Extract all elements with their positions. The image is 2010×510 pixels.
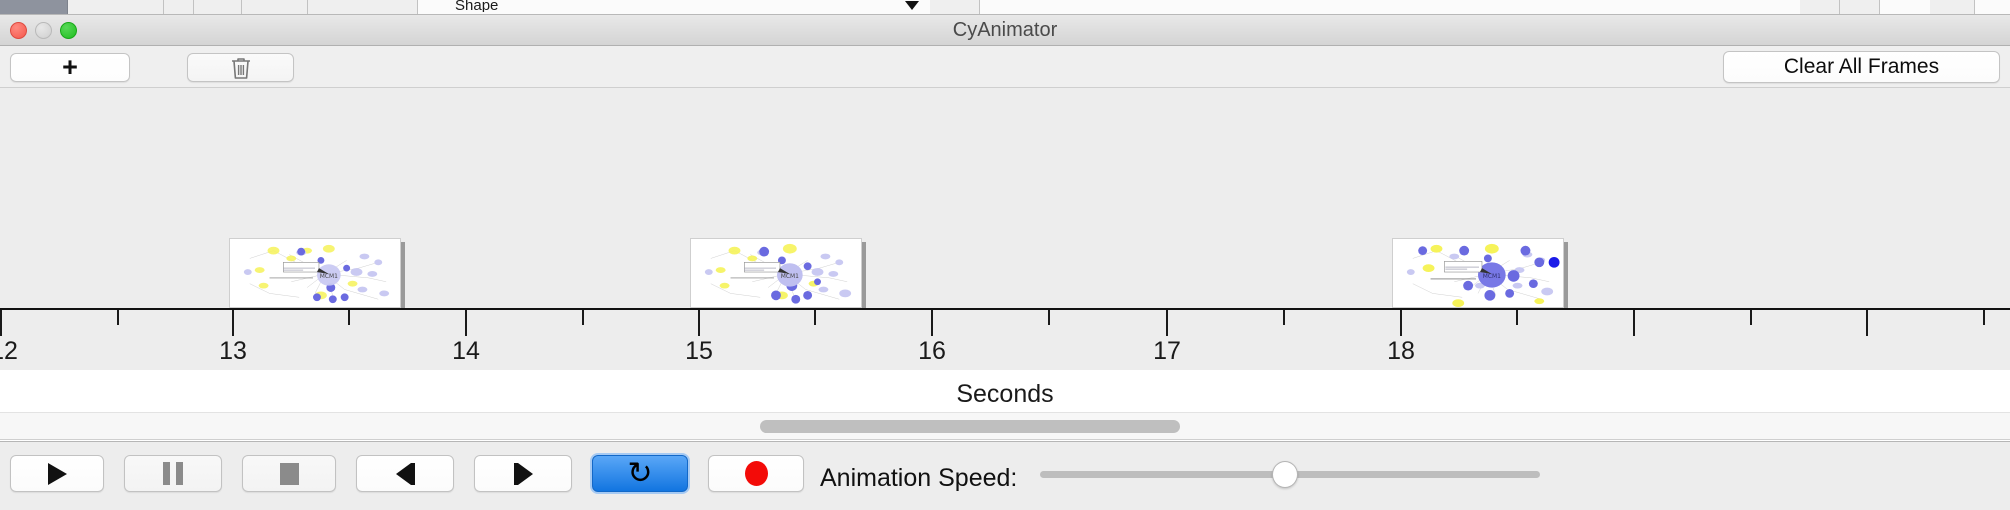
skip-to-start-button[interactable]: [356, 455, 454, 492]
ruler-tick-major: [931, 310, 933, 336]
ruler-tick-minor: [348, 310, 350, 325]
background-tab: [930, 0, 980, 15]
background-tab: [68, 0, 164, 15]
background-tab: [1800, 0, 1840, 15]
pause-button[interactable]: [124, 455, 222, 492]
background-tab: [164, 0, 194, 15]
background-tab: [1930, 0, 1975, 15]
ruler-tick-minor: [1750, 310, 1752, 325]
stop-icon: [280, 463, 299, 485]
background-tab: [0, 0, 68, 15]
ruler-tick-minor: [1048, 310, 1050, 325]
background-window-strip: Shape: [0, 0, 2010, 15]
ruler-tick-major: [698, 310, 700, 336]
play-button[interactable]: [10, 455, 104, 492]
slider-thumb[interactable]: [1272, 461, 1298, 488]
timeline-track[interactable]: MCM1: [0, 88, 2010, 310]
add-frame-button[interactable]: +: [10, 53, 130, 82]
ruler-tick-major: [1166, 310, 1168, 336]
ruler-tick-minor: [1983, 310, 1985, 325]
playback-controls: ↻ Animation Speed:: [0, 441, 2010, 510]
plus-icon: +: [62, 57, 78, 79]
svg-text:MCM1: MCM1: [320, 274, 338, 280]
cyanimator-window: Shape CyAnimator + Clear All Frames: [0, 0, 2010, 510]
frame-thumbnail[interactable]: MCM1: [1392, 238, 1564, 308]
pause-icon: [163, 462, 183, 485]
ruler-label: 12: [0, 337, 18, 366]
frame-toolbar: + Clear All Frames: [0, 46, 2010, 88]
stop-button[interactable]: [242, 455, 336, 492]
window-title: CyAnimator: [0, 15, 2010, 46]
record-button[interactable]: [708, 455, 804, 492]
loop-icon: ↻: [627, 459, 652, 489]
ruler-tick-major: [1400, 310, 1402, 336]
ruler-tick-minor: [1516, 310, 1518, 325]
ruler-tick-major: [232, 310, 234, 336]
ruler-label: 18: [1387, 337, 1415, 366]
network-preview-2: MCM1: [691, 239, 861, 307]
ruler-tick-major: [465, 310, 467, 336]
time-ruler[interactable]: 12 13 14 15 16 17 18: [0, 310, 2010, 370]
loop-button[interactable]: ↻: [592, 455, 688, 492]
record-icon: [745, 461, 768, 486]
animation-speed-label: Animation Speed:: [820, 464, 1017, 493]
title-bar[interactable]: CyAnimator: [0, 15, 2010, 46]
skip-back-icon: [396, 463, 415, 485]
skip-forward-icon: [514, 463, 533, 485]
background-tab: [1840, 0, 1880, 15]
ruler-tick-major: [1866, 310, 1868, 336]
axis-title: Seconds: [0, 380, 2010, 410]
ruler-label: 15: [685, 337, 713, 366]
network-preview-1: MCM1: [230, 239, 400, 307]
frame-thumbnail[interactable]: MCM1: [229, 238, 401, 308]
frame-thumbnail[interactable]: MCM1: [690, 238, 862, 308]
scrollbar-thumb[interactable]: [760, 420, 1180, 433]
delete-frame-button[interactable]: [187, 53, 294, 82]
background-window-label: Shape: [455, 0, 498, 12]
ruler-tick-minor: [814, 310, 816, 325]
svg-text:MCM1: MCM1: [781, 274, 799, 280]
trash-icon: [230, 56, 252, 80]
play-icon: [48, 463, 67, 485]
background-tab: [194, 0, 242, 15]
network-preview-3: MCM1: [1393, 239, 1563, 307]
clear-all-frames-button[interactable]: Clear All Frames: [1723, 51, 2000, 83]
clear-all-frames-label: Clear All Frames: [1784, 55, 1939, 79]
ruler-tick-minor: [582, 310, 584, 325]
skip-to-end-button[interactable]: [474, 455, 572, 492]
background-caret-icon: [905, 1, 919, 10]
ruler-tick-major: [0, 310, 2, 336]
background-tab: [308, 0, 418, 15]
animation-speed-slider[interactable]: [1040, 471, 1540, 478]
ruler-label: 17: [1153, 337, 1181, 366]
background-tab: [242, 0, 308, 15]
timeline-scrollbar[interactable]: [0, 412, 2010, 440]
ruler-tick-minor: [1283, 310, 1285, 325]
svg-text:MCM1: MCM1: [1483, 274, 1501, 280]
ruler-label: 16: [918, 337, 946, 366]
ruler-label: 14: [452, 337, 480, 366]
ruler-tick-major: [1633, 310, 1635, 336]
ruler-label: 13: [219, 337, 247, 366]
ruler-tick-minor: [117, 310, 119, 325]
